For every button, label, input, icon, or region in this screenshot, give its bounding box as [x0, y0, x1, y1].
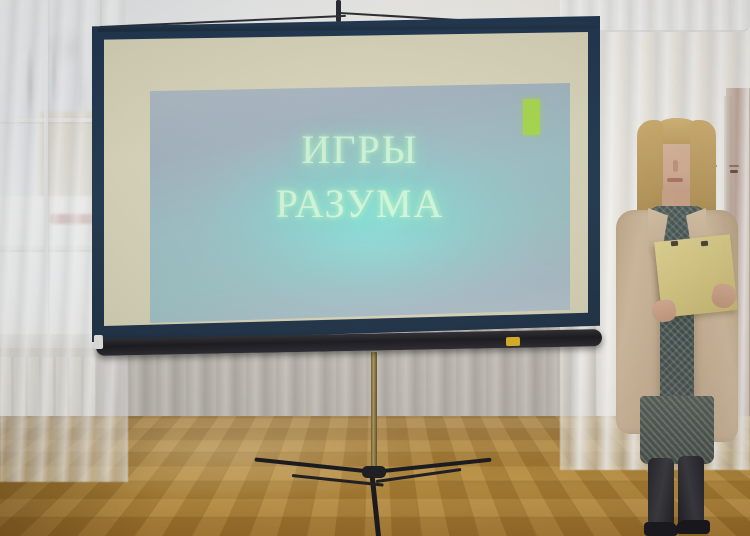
boot-left — [648, 458, 674, 530]
screen-pull-handle[interactable] — [506, 337, 520, 346]
shoe-left — [644, 522, 678, 536]
presenter-person — [604, 118, 750, 536]
projector-screen[interactable]: ИГРЫ РАЗУМА — [92, 16, 600, 364]
tripod-center-pole — [371, 352, 377, 474]
projected-slide[interactable]: ИГРЫ РАЗУМА — [150, 83, 570, 323]
screen-bar-endcap — [94, 335, 103, 349]
ceiling-hook-icon — [336, 0, 341, 22]
skirt-hem — [640, 396, 714, 464]
screen-surface: ИГРЫ РАЗУМА — [104, 32, 588, 326]
nose — [673, 160, 678, 172]
window-mullion-vertical — [44, 0, 48, 336]
mouth — [667, 178, 683, 182]
floor-shadow — [0, 416, 190, 536]
shoe-right — [676, 520, 710, 534]
eye-right — [730, 170, 738, 173]
photo-scene: ИГРЫ РАЗУМА — [0, 0, 750, 536]
eyebrow-right — [729, 165, 739, 167]
tripod-hub — [362, 466, 386, 478]
clipboard-clip — [701, 241, 708, 247]
screen-frame: ИГРЫ РАЗУМА — [92, 16, 600, 342]
slide-title: ИГРЫ РАЗУМА — [150, 123, 570, 231]
clipboard-clip — [671, 241, 678, 247]
